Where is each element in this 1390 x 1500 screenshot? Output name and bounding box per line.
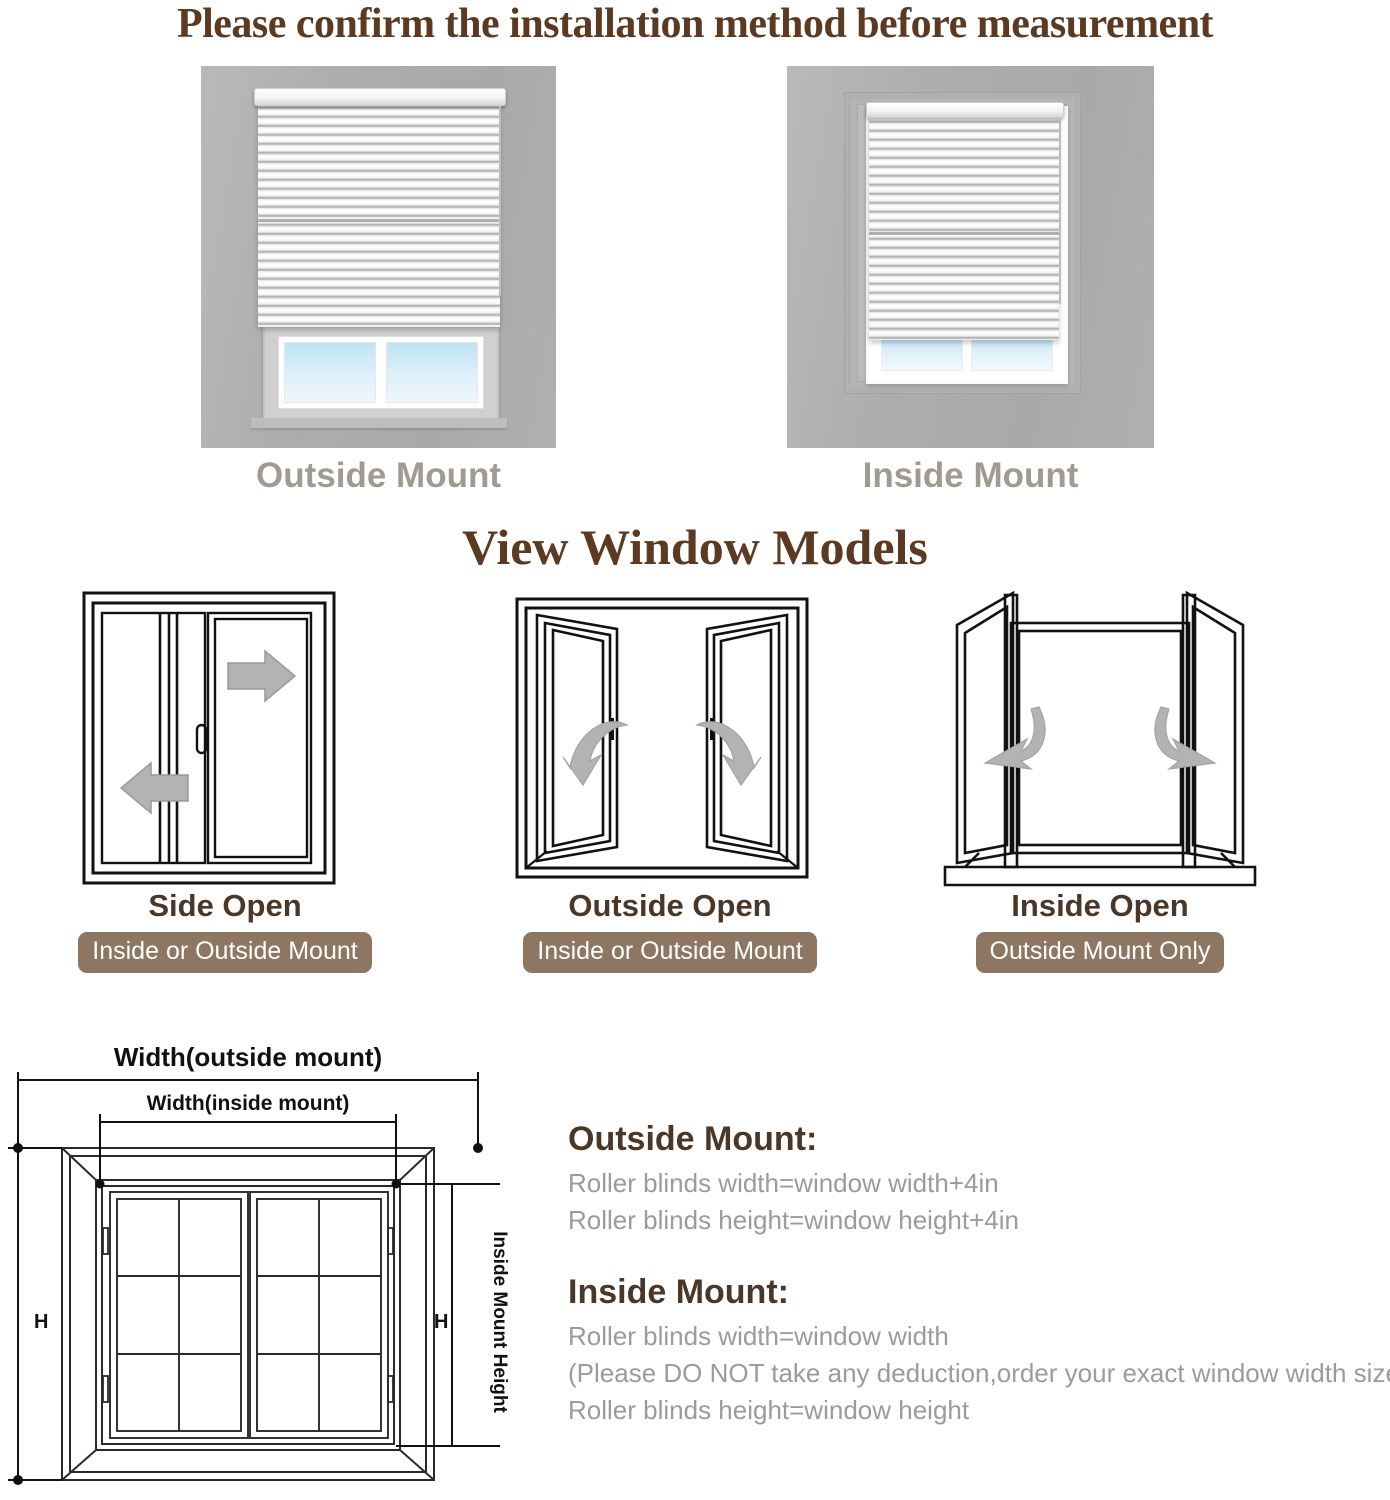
inside-mount-caption: Inside Mount xyxy=(787,456,1154,496)
window-models-row: Side Open Inside or Outside Mount xyxy=(0,585,1390,985)
note-line: (Please DO NOT take any deduction,order … xyxy=(568,1355,1378,1392)
mount-examples-row: Outside Mount Inside Mount xyxy=(0,66,1390,496)
model-mount-badge: Outside Mount Only xyxy=(976,932,1225,973)
pleated-blind xyxy=(258,102,500,327)
note-outside-mount: Outside Mount: Roller blinds width=windo… xyxy=(568,1120,1378,1239)
window-pane xyxy=(284,342,376,403)
inside-mount-photo xyxy=(787,66,1154,448)
model-mount-badge: Inside or Outside Mount xyxy=(523,932,816,973)
section-title-window-models: View Window Models xyxy=(0,518,1390,576)
window-pane xyxy=(386,342,478,403)
page-title: Please confirm the installation method b… xyxy=(0,0,1390,48)
inward-casement-window-diagram xyxy=(935,585,1265,890)
outside-mount-example: Outside Mount xyxy=(201,66,556,448)
window-glass-area xyxy=(278,336,484,409)
sliding-window-diagram xyxy=(60,585,390,890)
outward-casement-window-diagram xyxy=(505,585,835,890)
model-label: Side Open xyxy=(60,888,390,924)
blind-cord xyxy=(1059,118,1061,304)
window-model-outside-open: Outside Open Inside or Outside Mount xyxy=(505,585,835,973)
outside-mount-caption: Outside Mount xyxy=(201,456,556,496)
width-outside-label: Width(outside mount) xyxy=(114,1042,382,1072)
window-sill xyxy=(251,418,507,428)
measurement-notes: Outside Mount: Roller blinds width=windo… xyxy=(568,1120,1378,1429)
note-heading: Outside Mount: xyxy=(568,1120,1378,1159)
note-line: Roller blinds width=window width+4in xyxy=(568,1165,1378,1202)
blind-headrail xyxy=(866,102,1064,118)
inside-mount-example: Inside Mount xyxy=(787,66,1154,448)
model-label: Outside Open xyxy=(505,888,835,924)
note-line: Roller blinds height=window height+4in xyxy=(568,1202,1378,1239)
note-line: Roller blinds height=window height xyxy=(568,1392,1378,1429)
arrow-right-icon xyxy=(228,651,295,701)
note-inside-mount: Inside Mount: Roller blinds width=window… xyxy=(568,1273,1378,1429)
window-model-side-open: Side Open Inside or Outside Mount xyxy=(60,585,390,973)
pleated-blind xyxy=(869,116,1059,340)
model-label: Inside Open xyxy=(935,888,1265,924)
height-inside-label: Inside Mount Height xyxy=(489,1231,510,1413)
measurement-section: Width(outside mount) Width(inside mount)… xyxy=(0,1040,1390,1500)
h-marker-outside: H xyxy=(34,1311,48,1333)
window-model-inside-open: Inside Open Outside Mount Only xyxy=(935,585,1265,973)
arrow-curve-inward-left-icon xyxy=(985,707,1045,769)
measurement-diagram: Width(outside mount) Width(inside mount)… xyxy=(0,1040,540,1500)
window-unit xyxy=(263,326,499,425)
model-mount-badge: Inside or Outside Mount xyxy=(78,932,371,973)
arrow-curve-inward-right-icon xyxy=(1155,707,1215,769)
outside-mount-photo xyxy=(201,66,556,448)
blind-cord xyxy=(499,106,501,296)
width-inside-label: Width(inside mount) xyxy=(147,1092,350,1115)
h-marker-inside: H xyxy=(434,1311,448,1333)
note-heading: Inside Mount: xyxy=(568,1273,1378,1312)
note-line: Roller blinds width=window width xyxy=(568,1318,1378,1355)
blind-headrail xyxy=(254,88,506,106)
